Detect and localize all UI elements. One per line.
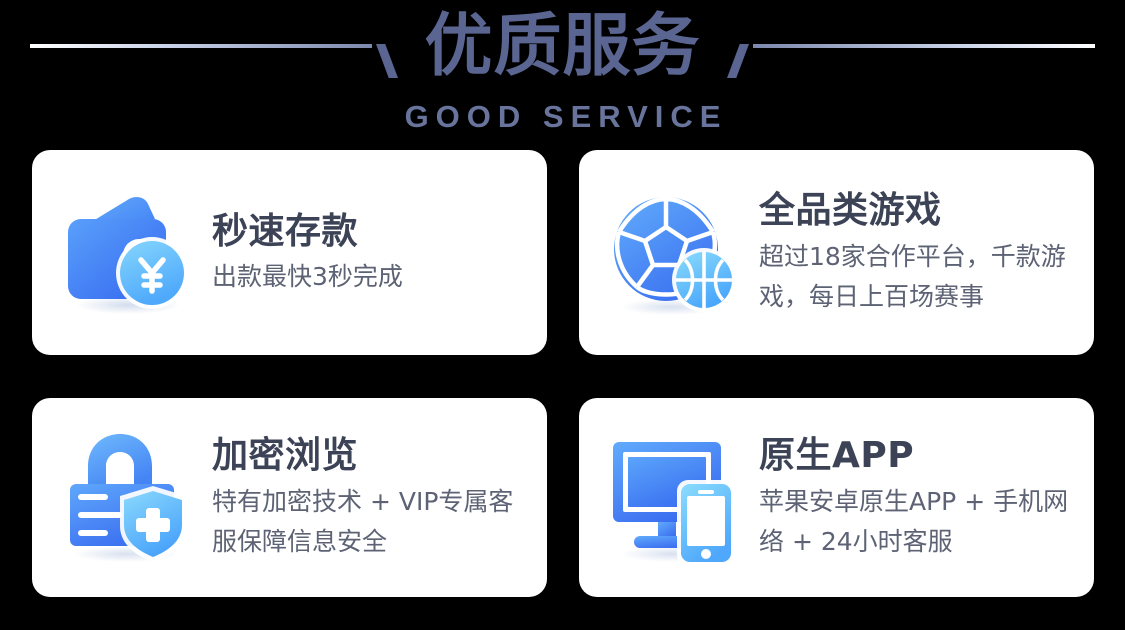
page-subtitle: GOOD SERVICE <box>0 99 1125 135</box>
feature-card-games[interactable]: 全品类游戏 超过18家合作平台，千款游戏，每日上百场赛事 <box>579 150 1094 355</box>
page-header: 优质服务 GOOD SERVICE <box>0 0 1125 148</box>
feature-card-text: 全品类游戏 超过18家合作平台，千款游戏，每日上百场赛事 <box>759 189 1078 317</box>
page-title: 优质服务 <box>0 8 1125 86</box>
feature-card-title: 加密浏览 <box>212 434 531 478</box>
feature-card-description: 苹果安卓原生APP + 手机网络 + 24小时客服 <box>759 482 1078 562</box>
feature-card-native-app[interactable]: 原生APP 苹果安卓原生APP + 手机网络 + 24小时客服 <box>579 398 1094 597</box>
feature-card-text: 秒速存款 出款最快3秒完成 <box>212 210 531 296</box>
soccer-basketball-icon <box>603 183 753 323</box>
feature-card-description: 出款最快3秒完成 <box>212 258 531 296</box>
monitor-phone-icon <box>603 428 753 568</box>
wallet-yen-icon <box>56 183 206 323</box>
feature-card-deposit[interactable]: 秒速存款 出款最快3秒完成 <box>32 150 547 355</box>
feature-card-grid: 秒速存款 出款最快3秒完成 <box>32 150 1094 597</box>
feature-card-title: 原生APP <box>759 434 1078 478</box>
feature-card-title: 全品类游戏 <box>759 189 1078 233</box>
feature-card-text: 原生APP 苹果安卓原生APP + 手机网络 + 24小时客服 <box>759 434 1078 562</box>
feature-card-encryption[interactable]: 加密浏览 特有加密技术 + VIP专属客服保障信息安全 <box>32 398 547 597</box>
feature-card-title: 秒速存款 <box>212 210 531 254</box>
lock-shield-icon <box>56 428 206 568</box>
feature-card-text: 加密浏览 特有加密技术 + VIP专属客服保障信息安全 <box>212 434 531 562</box>
feature-card-description: 特有加密技术 + VIP专属客服保障信息安全 <box>212 482 531 562</box>
feature-card-description: 超过18家合作平台，千款游戏，每日上百场赛事 <box>759 237 1078 317</box>
